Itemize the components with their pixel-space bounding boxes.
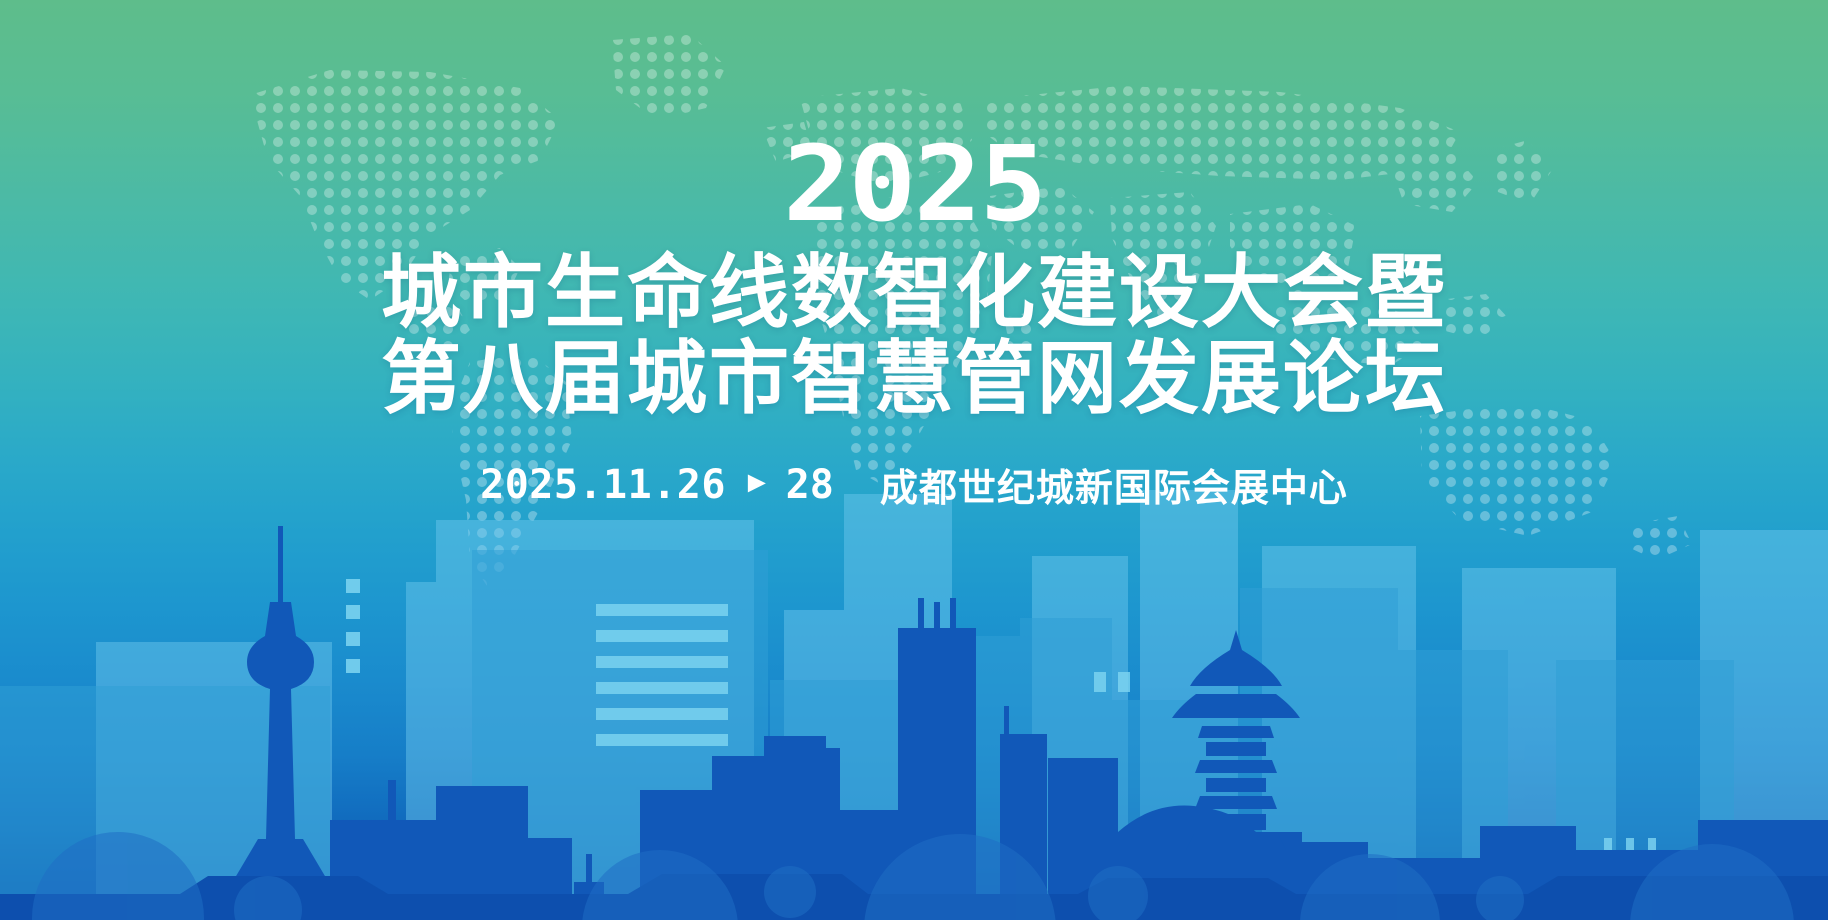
skyline-near-layer [210, 526, 1828, 920]
decorative-circles [0, 740, 1828, 920]
skyline-far-layer [96, 490, 1828, 920]
event-year: 2025 [0, 0, 1828, 236]
building-window-dots [1094, 672, 1656, 866]
event-meta: 2025.11.26 ► 28 成都世纪城新国际会展中心 [0, 421, 1828, 512]
skyline-mid-layer [0, 550, 1734, 920]
skyline-front-layer [0, 874, 1828, 920]
event-date-end: 28 [786, 462, 834, 508]
pagoda-icon [1172, 630, 1300, 920]
banner-content: 2025 城市生命线数智化建设大会暨 第八届城市智慧管网发展论坛 2025.11… [0, 0, 1828, 512]
tv-tower-icon [210, 526, 351, 920]
event-date-start: 2025.11.26 [480, 462, 726, 508]
event-title-line-2: 第八届城市智慧管网发展论坛 [0, 336, 1828, 422]
building-window-bands [596, 604, 728, 746]
city-skyline [0, 490, 1828, 920]
event-title-line-1: 城市生命线数智化建设大会暨 [0, 250, 1828, 336]
building-window-squares [346, 579, 360, 673]
event-title: 城市生命线数智化建设大会暨 第八届城市智慧管网发展论坛 [0, 236, 1828, 421]
play-triangle-icon: ► [742, 468, 772, 498]
event-venue: 成都世纪城新国际会展中心 [880, 457, 1348, 512]
conference-banner: 2025 城市生命线数智化建设大会暨 第八届城市智慧管网发展论坛 2025.11… [0, 0, 1828, 920]
